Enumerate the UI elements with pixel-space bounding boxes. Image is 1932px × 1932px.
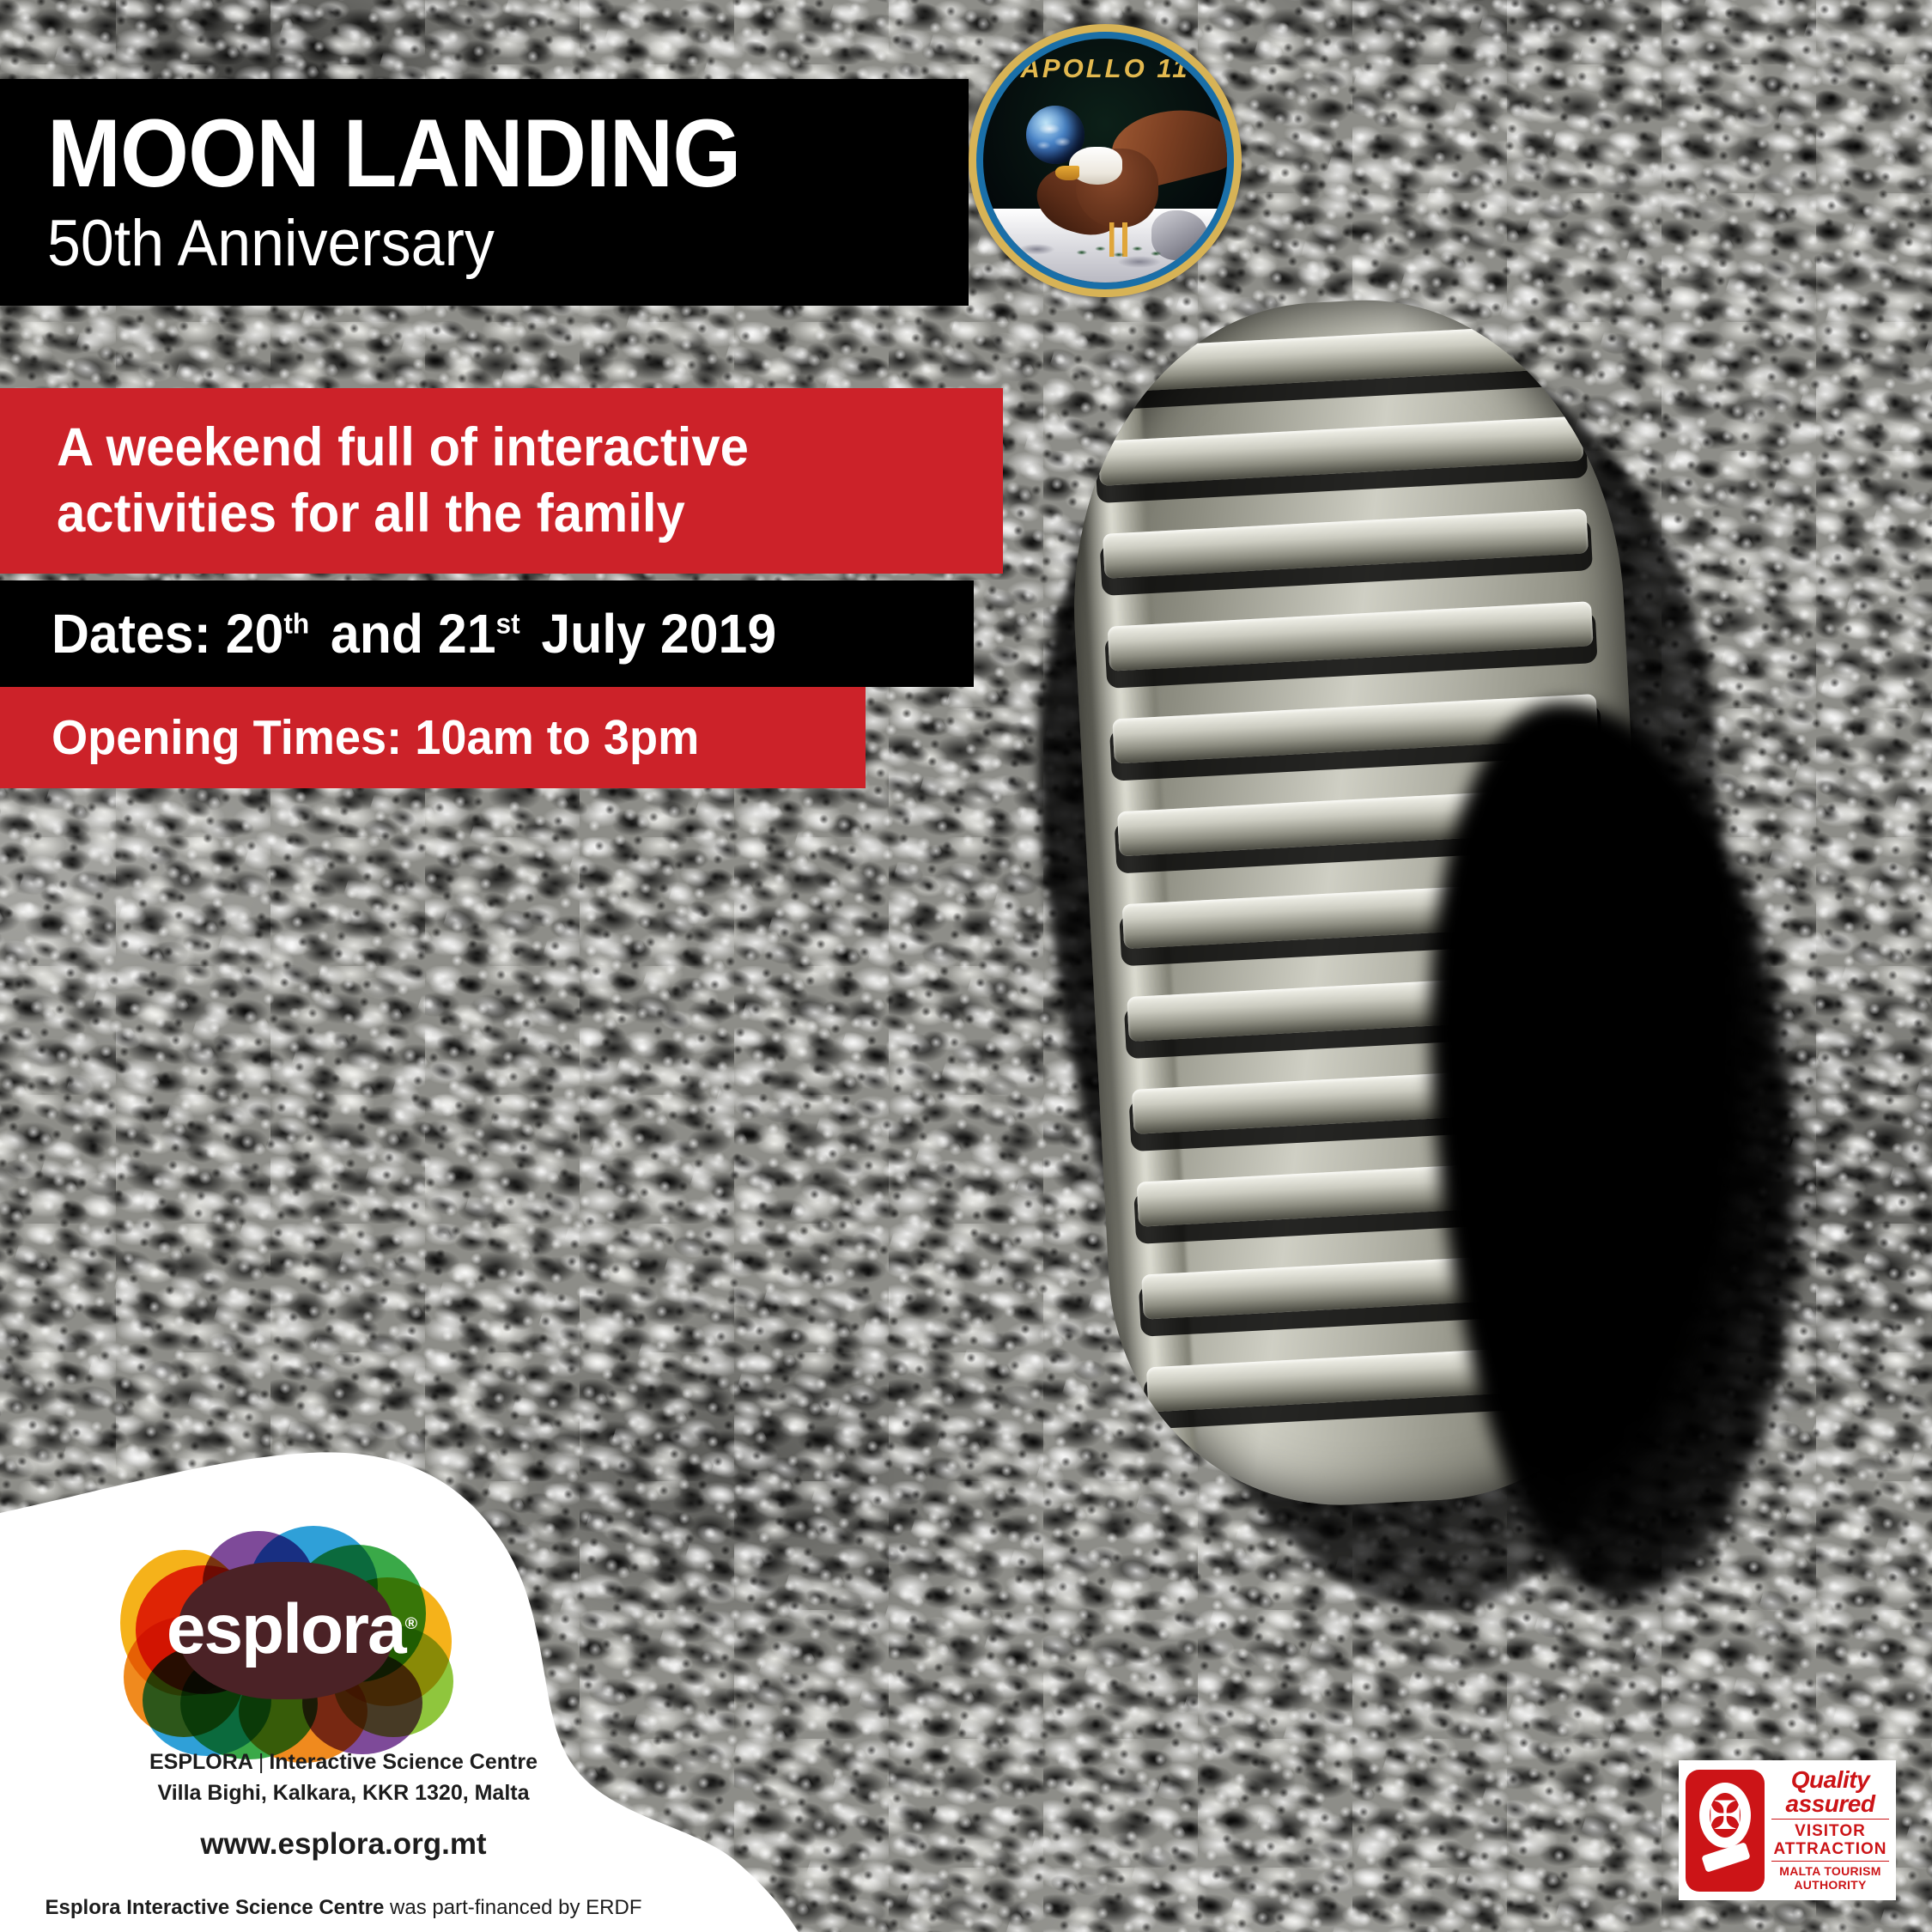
badge-line-visitor: VISITOR (1771, 1822, 1889, 1840)
badge-line-quality: Quality (1771, 1768, 1889, 1791)
footer-separator: | (253, 1750, 270, 1774)
badge-line-assured: assured (1771, 1792, 1889, 1816)
date-second-number: 21 (438, 603, 496, 665)
olive-branch-icon (1072, 243, 1165, 262)
eagle-beak-icon (1055, 166, 1079, 180)
patch-label: APOLLO 11 (983, 53, 1227, 84)
logo-wordmark: esplora® (120, 1589, 464, 1670)
patch-field: APOLLO 11 (983, 39, 1227, 283)
footer-org-line: ESPLORA|Interactive Science Centre (0, 1747, 687, 1778)
tagline-line-2: activities for all the family (57, 481, 749, 547)
footer-funding-note: Esplora Interactive Science Centre was p… (0, 1896, 687, 1920)
quality-badge-text: Quality assured VISITOR ATTRACTION MALTA… (1771, 1768, 1889, 1892)
apollo-11-patch-icon: APOLLO 11 (969, 24, 1242, 297)
badge-divider (1771, 1819, 1889, 1820)
tagline-line-1: A weekend full of interactive (57, 415, 749, 481)
maltese-cross-icon: ✠ (1708, 1792, 1742, 1838)
date-conjunction: and (331, 603, 423, 665)
date-first-number: 20 (226, 603, 284, 665)
date-first-suffix: th (283, 609, 309, 641)
tagline-text: A weekend full of interactive activities… (57, 415, 749, 547)
registered-trademark-icon: ® (405, 1614, 418, 1633)
astronaut-bootprint (979, 265, 1769, 1641)
opening-times-banner: Opening Times: 10am to 3pm (0, 687, 866, 788)
dates-label: Dates: (52, 603, 211, 665)
bootprint-tread (1098, 416, 1583, 486)
malta-tourism-q-mark-icon: ✠ (1686, 1770, 1765, 1892)
date-second-suffix: st (496, 609, 520, 641)
footer-org-type: Interactive Science Centre (269, 1750, 538, 1774)
dates-text: Dates: 20thand 21stJuly 2019 (52, 602, 776, 665)
page-subtitle: 50th Anniversary (47, 209, 495, 279)
bootprint-tread (1108, 601, 1593, 671)
page-title: MOON LANDING (47, 106, 741, 202)
footer-org-name: ESPLORA (149, 1750, 253, 1774)
footer-address: Villa Bighi, Kalkara, KKR 1320, Malta (0, 1778, 687, 1809)
badge-line-authority: AUTHORITY (1771, 1878, 1889, 1892)
poster-canvas: MOON LANDING 50th Anniversary APOLLO 11 … (0, 0, 1932, 1932)
footer-funding-rest: was part-financed by ERDF (384, 1896, 641, 1919)
badge-line-attraction: ATTRACTION (1771, 1840, 1889, 1858)
bootprint-tread (1103, 508, 1588, 578)
badge-divider (1771, 1861, 1889, 1862)
quality-assured-badge: ✠ Quality assured VISITOR ATTRACTION MAL… (1679, 1760, 1896, 1900)
bootprint-tread (1093, 324, 1578, 393)
footer-funding-bold: Esplora Interactive Science Centre (46, 1896, 385, 1919)
dates-banner: Dates: 20thand 21stJuly 2019 (0, 580, 974, 687)
title-banner: MOON LANDING 50th Anniversary (0, 79, 969, 306)
logo-wordmark-text: esplora (167, 1590, 405, 1668)
badge-line-malta-tourism: MALTA TOURISM (1771, 1864, 1889, 1878)
date-month-year: July 2019 (541, 603, 776, 665)
tagline-banner: A weekend full of interactive activities… (0, 388, 1003, 574)
esplora-logo[interactable]: esplora® (120, 1516, 464, 1747)
footer-website-link[interactable]: www.esplora.org.mt (0, 1827, 687, 1862)
footer-contact-block: ESPLORA|Interactive Science Centre Villa… (0, 1747, 687, 1920)
opening-times-text: Opening Times: 10am to 3pm (52, 709, 699, 766)
